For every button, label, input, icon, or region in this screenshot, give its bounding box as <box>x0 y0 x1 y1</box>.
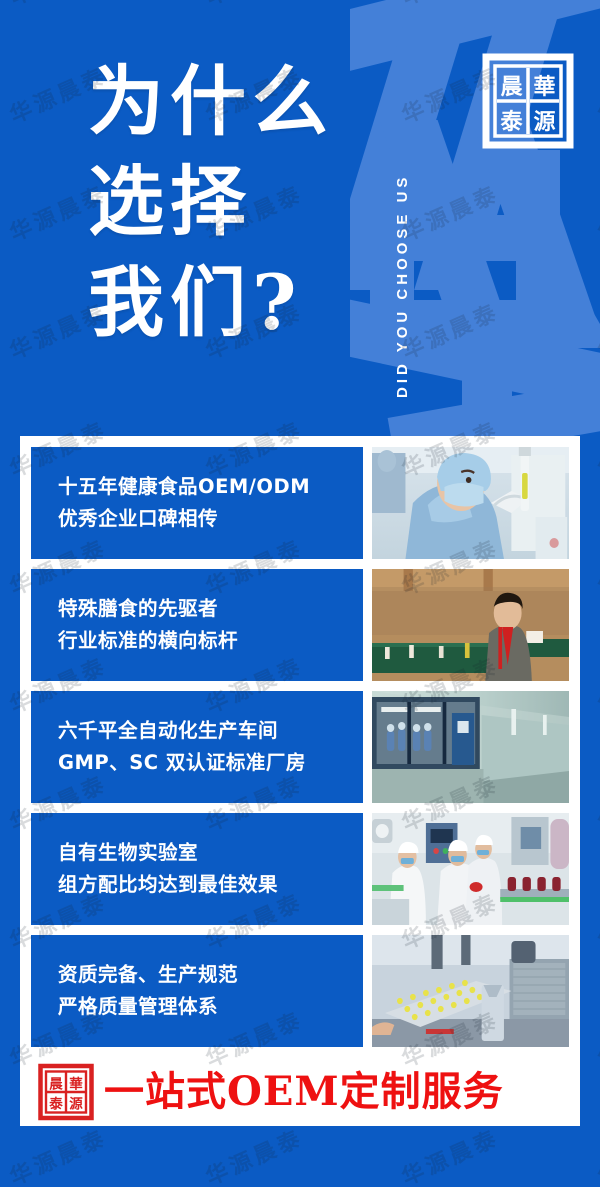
feature-text-line: 六千平全自动化生产车间 <box>58 715 363 747</box>
feature-text-line: 行业标准的横向标杆 <box>58 625 363 657</box>
photo-cleanroom-corridor <box>372 691 569 803</box>
svg-text:華: 華 <box>533 74 555 100</box>
feature-row: 自有生物实验室组方配比均达到最佳效果 <box>31 813 569 925</box>
footer-seal-icon: 晨 泰 華 源 <box>38 1063 94 1121</box>
vertical-tagline: DID YOU CHOOSE US <box>394 18 420 398</box>
feature-card-1: 十五年健康食品OEM/ODM优秀企业口碑相传 <box>31 447 363 559</box>
watermark-text: 华源晨泰 <box>396 1120 504 1187</box>
feature-text-line: 资质完备、生产规范 <box>58 959 363 991</box>
watermark-text: 华源晨泰 <box>592 1120 600 1187</box>
watermark-text: 华源晨泰 <box>592 648 600 720</box>
feature-text-line: 组方配比均达到最佳效果 <box>58 869 363 901</box>
svg-text:晨: 晨 <box>500 74 523 100</box>
page-title: 为什么 选择 我们? <box>88 52 334 353</box>
poster-root: 为什么 选择 我们? DID YOU CHOOSE US 晨 泰 華 源 十五年… <box>0 0 600 1187</box>
feature-card-2: 特殊膳食的先驱者行业标准的横向标杆 <box>31 569 363 681</box>
photo-lab-technician-pipetting <box>372 447 569 559</box>
svg-text:泰: 泰 <box>48 1096 63 1113</box>
feature-text-line: 十五年健康食品OEM/ODM <box>58 471 363 503</box>
page-title-line-1: 为什么 <box>88 52 334 152</box>
feature-row: 特殊膳食的先驱者行业标准的横向标杆 <box>31 569 569 681</box>
page-title-line-3: 我们? <box>88 253 334 353</box>
svg-text:源: 源 <box>533 109 555 135</box>
footer-banner: 晨 泰 華 源 一站式OEM定制服务 <box>20 1058 580 1126</box>
feature-text-line: 严格质量管理体系 <box>58 991 363 1023</box>
feature-row: 资质完备、生产规范严格质量管理体系 <box>31 935 569 1047</box>
feature-card-3: 六千平全自动化生产车间GMP、SC 双认证标准厂房 <box>31 691 363 803</box>
photo-blister-packing-machine <box>372 935 569 1047</box>
features-row-list: 十五年健康食品OEM/ODM优秀企业口碑相传 特殊膳食的先驱者行业标准的横向标杆 <box>31 447 569 1047</box>
hero-section: 为什么 选择 我们? DID YOU CHOOSE US 晨 泰 華 源 <box>0 0 600 438</box>
feature-card-5: 资质完备、生产规范严格质量管理体系 <box>31 935 363 1047</box>
feature-text-line: GMP、SC 双认证标准厂房 <box>58 747 363 779</box>
photo-conference-audience <box>372 569 569 681</box>
watermark-text: 华源晨泰 <box>200 1120 308 1187</box>
feature-text-line: 优秀企业口碑相传 <box>58 503 363 535</box>
watermark-text: 华源晨泰 <box>4 1120 112 1187</box>
photo-workers-production-line <box>372 813 569 925</box>
watermark-text: 华源晨泰 <box>592 766 600 838</box>
features-panel: 十五年健康食品OEM/ODM优秀企业口碑相传 特殊膳食的先驱者行业标准的横向标杆 <box>20 436 580 1058</box>
watermark-text: 华源晨泰 <box>592 530 600 602</box>
feature-card-4: 自有生物实验室组方配比均达到最佳效果 <box>31 813 363 925</box>
watermark-text: 华源晨泰 <box>592 884 600 956</box>
feature-row: 十五年健康食品OEM/ODM优秀企业口碑相传 <box>31 447 569 559</box>
footer-slogan: 一站式OEM定制服务 <box>104 1072 504 1112</box>
watermark-text: 华源晨泰 <box>592 1002 600 1074</box>
feature-text-line: 自有生物实验室 <box>58 837 363 869</box>
svg-text:源: 源 <box>69 1096 83 1113</box>
feature-text-line: 特殊膳食的先驱者 <box>58 593 363 625</box>
svg-text:泰: 泰 <box>499 109 523 135</box>
svg-text:華: 華 <box>69 1076 83 1093</box>
svg-text:晨: 晨 <box>49 1077 63 1093</box>
company-seal-icon: 晨 泰 華 源 <box>482 52 574 150</box>
page-title-line-2: 选择 <box>88 152 334 252</box>
feature-row: 六千平全自动化生产车间GMP、SC 双认证标准厂房 <box>31 691 569 803</box>
